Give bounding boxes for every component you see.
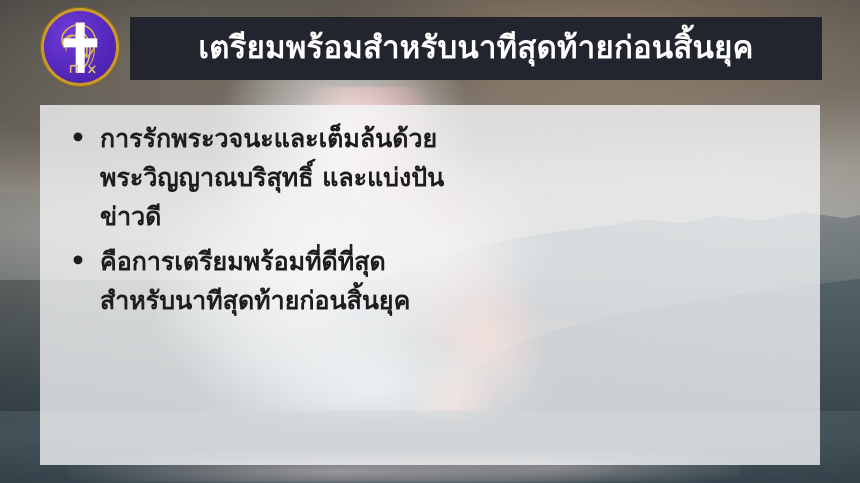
bullet-line: สำหรับนาทีสุดท้ายก่อนสิ้นยุค [100,281,792,320]
bullet-list: การรักพระวจนะและเต็มล้นด้วย พระวิญญาณบริ… [40,105,820,320]
slide-title-bar: เตรียมพร้อมสำหรับนาทีสุดท้ายก่อนสิ้นยุค [130,17,822,80]
slide-title: เตรียมพร้อมสำหรับนาทีสุดท้ายก่อนสิ้นยุค [198,31,753,65]
bullet-line: ข่าวดี [100,197,792,236]
list-item: คือการเตรียมพร้อมที่ดีที่สุด สำหรับนาทีส… [66,242,792,320]
bullet-line: การรักพระวจนะและเต็มล้นด้วย [100,119,792,158]
slide-content-panel: การรักพระวจนะและเต็มล้นด้วย พระวิญญาณบริ… [40,105,820,465]
bullet-line: คือการเตรียมพร้อมที่ดีที่สุด [100,242,792,281]
bullet-line: พระวิญญาณบริสุทธิ์ และแบ่งปัน [100,158,792,197]
presentation-slide: เตรียมพร้อมสำหรับนาทีสุดท้ายก่อนสิ้นยุค … [0,0,860,483]
list-item: การรักพระวจนะและเต็มล้นด้วย พระวิญญาณบริ… [66,119,792,236]
ministry-logo-icon [44,11,116,83]
